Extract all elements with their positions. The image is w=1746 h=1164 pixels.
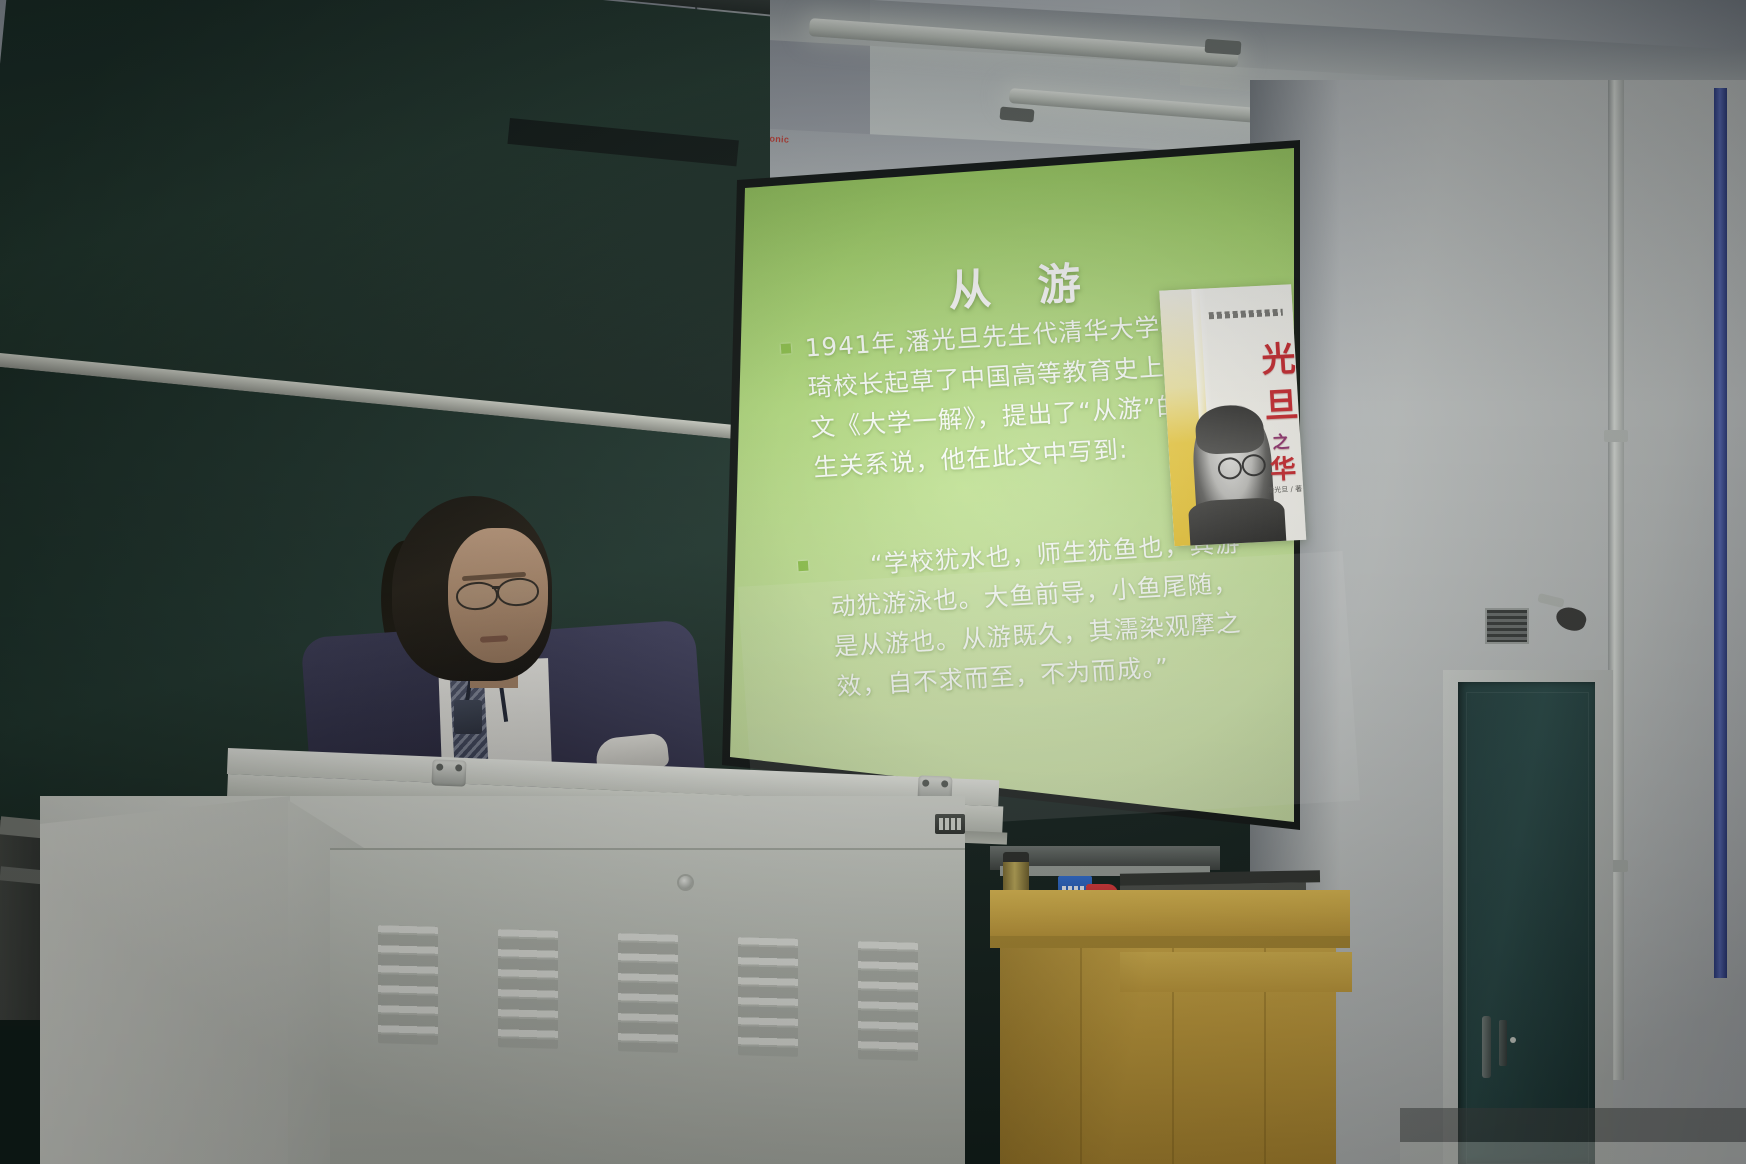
door-keyhole-icon: [1510, 1037, 1516, 1043]
podium-vent-louvers: [378, 925, 438, 1045]
wall-vent-icon: [1485, 608, 1529, 644]
presentation-slide: 从 游 1941年,潘光旦先生代清华大学梅贻琦校长起草了中国高等教育史上的名文《…: [706, 100, 1360, 834]
door-lock-icon[interactable]: [1499, 1020, 1507, 1066]
pipe-joint: [1604, 430, 1628, 442]
blue-pipe: [1714, 88, 1727, 978]
podium-logo-icon: [939, 818, 961, 830]
book-title-char-2: 旦: [1263, 388, 1299, 424]
floor-strip: [1400, 1142, 1746, 1164]
lectern-shading: [1000, 948, 1336, 1164]
lectern-top-edge: [990, 936, 1350, 948]
door-handle[interactable]: [1482, 1016, 1491, 1078]
wall-skirting: [1400, 1108, 1746, 1142]
book-author-caption: 潘光旦 / 著: [1267, 484, 1302, 496]
podium-hinge: [431, 759, 466, 786]
book-cover-image: 光 旦 之 华 潘光旦 / 著: [1159, 284, 1306, 546]
thermos-cap: [1003, 852, 1029, 862]
bullet-marker-icon: [798, 561, 809, 572]
lectern-top: [990, 890, 1350, 936]
bullet-marker-icon: [781, 343, 792, 354]
book-title-char-3: 之: [1272, 435, 1290, 453]
book-title-char-1: 光: [1261, 342, 1297, 378]
id-badge: [454, 700, 482, 734]
podium-vent-louvers: [618, 933, 678, 1053]
door-panel: [1466, 692, 1589, 1164]
glasses-bridge: [492, 586, 500, 589]
podium-vent-louvers: [498, 929, 558, 1049]
slide-paragraph-2: “学校犹水也，师生犹鱼也，其游动犹游泳也。大鱼前导，小鱼尾随，是从游也。从游既久…: [827, 523, 1257, 708]
classroom-photo: ViewSonic 从 游 1941年,潘光旦先生代清华大学梅贻琦校长起草了中国…: [0, 0, 1746, 1164]
podium-left-face: [40, 796, 290, 1164]
tube-light-endcap: [1205, 39, 1242, 55]
podium-lock-icon[interactable]: [679, 876, 692, 889]
book-title-char-4: 华: [1269, 456, 1297, 483]
portrait-torso: [1188, 497, 1287, 546]
podium-vent-louvers: [858, 941, 918, 1061]
podium-vent-louvers: [738, 937, 798, 1057]
book-cover-subtitle: [1209, 309, 1283, 320]
